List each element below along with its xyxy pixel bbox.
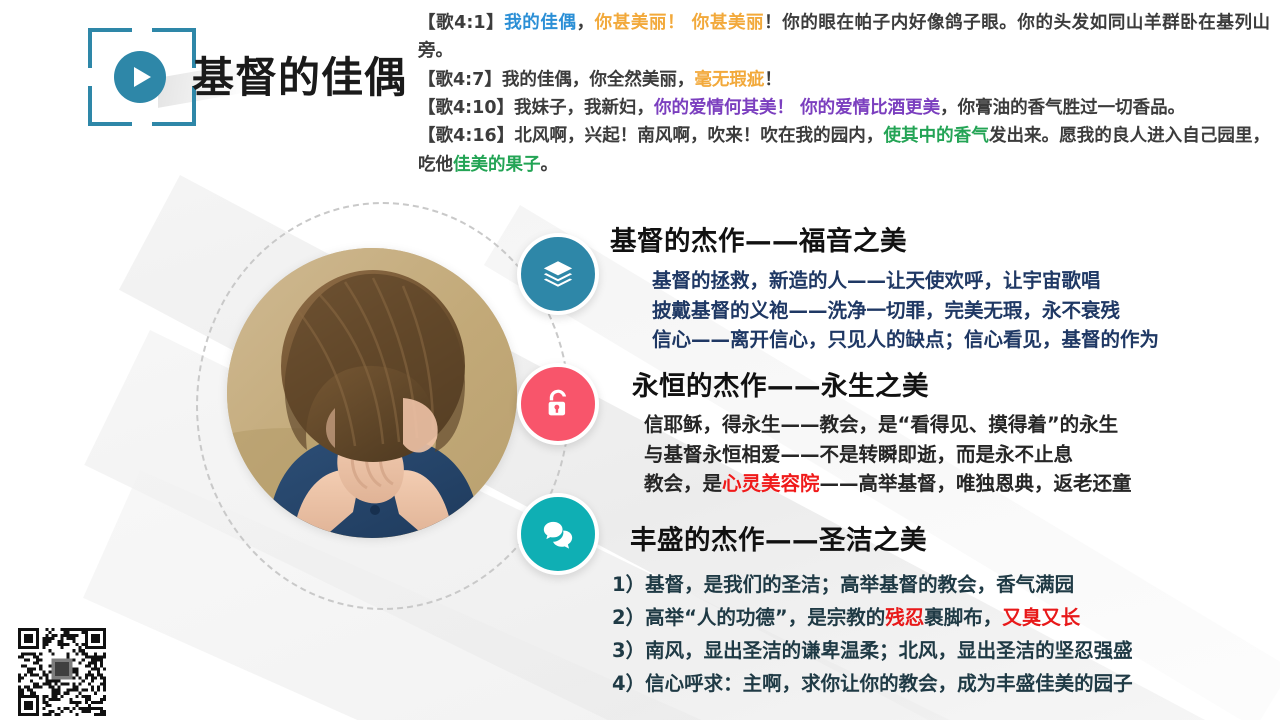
scripture-line: 【歌4:10】我妹子，我新妇，你的爱情何其美！ 你的爱情比酒更美，你膏油的香气胜… (418, 94, 1270, 122)
text-run: 4）信心呼求：主啊，求你让你的教会，成为丰盛佳美的园子 (612, 672, 1133, 695)
scripture-line: 【歌4:1】我的佳偶，你甚美丽！ 你甚美丽！你的眼在帕子内好像鸽子眼。你的头发如… (418, 9, 1270, 66)
scripture-run: 你的爱情比酒更美 (800, 98, 940, 118)
logo-mark (88, 28, 196, 126)
scripture-run: ， (577, 13, 595, 33)
text-run: 信心——离开信心，只见人的缺点；信心看见，基督的作为 (652, 328, 1159, 351)
section-items: 1）基督，是我们的圣洁；高举基督的教会，香气满园2）高举“人的功德”，是宗教的残… (612, 568, 1133, 701)
scripture-run: 我的佳偶 (504, 13, 576, 33)
chat-icon-glyph (541, 517, 575, 551)
section-eternal-beauty: 永恒的杰作——永生之美 信耶稣，得永生——教会，是“看得见、摸得着”的永生与基督… (632, 364, 1132, 499)
scripture-run: 北风啊，兴起！南风啊，吹来！吹在我的园内， (514, 126, 883, 146)
text-run: 又臭又长 (1002, 606, 1080, 629)
page-title: 基督的佳偶 (192, 44, 407, 105)
section-items: 信耶稣，得永生——教会，是“看得见、摸得着”的永生与基督永恒相爱——不是转瞬即逝… (644, 410, 1132, 499)
section-items: 基督的拯救，新造的人——让天使欢呼，让宇宙歌唱披戴基督的义袍——洗净一切罪，完美… (652, 266, 1159, 355)
list-item: 信耶稣，得永生——教会，是“看得见、摸得着”的永生 (644, 410, 1132, 440)
list-item: 2）高举“人的功德”，是宗教的残忍裹脚布，又臭又长 (612, 601, 1133, 634)
text-run: 信耶稣，得永生——教会，是“看得见、摸得着”的永生 (644, 413, 1118, 436)
scripture-run (685, 13, 692, 33)
unlock-icon[interactable] (517, 363, 599, 445)
scripture-line: 【歌4:16】北风啊，兴起！南风啊，吹来！吹在我的园内，使其中的香气发出来。愿我… (418, 122, 1270, 179)
scripture-run: 使其中的香气 (883, 126, 988, 146)
text-run: 2）高举“人的功德”，是宗教的 (612, 606, 885, 629)
list-item: 信心——离开信心，只见人的缺点；信心看见，基督的作为 (652, 325, 1159, 355)
scripture-reference: 【歌4:16】 (418, 126, 514, 146)
chat-icon[interactable] (517, 493, 599, 575)
layers-icon[interactable] (517, 233, 599, 315)
list-item: 与基督永恒相爱——不是转瞬即逝，而是永不止息 (644, 440, 1132, 470)
scripture-reference: 【歌4:7】 (418, 70, 502, 90)
scripture-block: 【歌4:1】我的佳偶，你甚美丽！ 你甚美丽！你的眼在帕子内好像鸽子眼。你的头发如… (418, 9, 1270, 179)
qr-code-glyph (14, 628, 110, 716)
qr-code[interactable] (14, 628, 110, 716)
section-gospel-beauty: 基督的杰作——福音之美 基督的拯救，新造的人——让天使欢呼，让宇宙歌唱披戴基督的… (610, 219, 1159, 355)
section-heading: 丰盛的杰作——圣洁之美 (630, 518, 1133, 557)
text-run: 裹脚布， (924, 606, 1002, 629)
scripture-run: 我的佳偶，你全然美丽， (502, 70, 695, 90)
text-run: 心灵美容院 (722, 472, 820, 495)
praying-child-photo (227, 248, 517, 538)
text-run: 1）基督，是我们的圣洁；高举基督的教会，香气满园 (612, 573, 1074, 596)
text-run: 残忍 (885, 606, 924, 629)
list-item: 4）信心呼求：主啊，求你让你的教会，成为丰盛佳美的园子 (612, 667, 1133, 700)
scripture-run: 我妹子，我新妇， (514, 98, 654, 118)
list-item: 1）基督，是我们的圣洁；高举基督的教会，香气满园 (612, 568, 1133, 601)
list-item: 披戴基督的义袍——洗净一切罪，完美无瑕，永不衰残 (652, 296, 1159, 326)
text-run: 与基督永恒相爱——不是转瞬即逝，而是永不止息 (644, 443, 1073, 466)
scripture-reference: 【歌4:1】 (418, 13, 504, 33)
section-holiness-beauty: 丰盛的杰作——圣洁之美 1）基督，是我们的圣洁；高举基督的教会，香气满园2）高举… (630, 518, 1133, 701)
scripture-run: ，你膏油的香气胜过一切香品。 (940, 98, 1185, 118)
layers-icon-glyph (541, 257, 575, 291)
scripture-run: 。 (541, 155, 559, 175)
text-run: 基督的拯救，新造的人——让天使欢呼，让宇宙歌唱 (652, 269, 1101, 292)
scripture-run: ！ (764, 70, 782, 90)
section-heading: 永恒的杰作——永生之美 (632, 364, 1132, 403)
text-run: 3）南风，显出圣洁的谦卑温柔；北风，显出圣洁的坚忍强盛 (612, 639, 1133, 662)
text-run: 教会，是 (644, 472, 722, 495)
scripture-run: 毫无瑕疵 (694, 70, 764, 90)
text-run: ——高举基督，唯独恩典，返老还童 (820, 472, 1132, 495)
play-icon[interactable] (114, 51, 166, 103)
scripture-run: 佳美的果子 (453, 155, 541, 175)
text-run: 披戴基督的义袍——洗净一切罪，完美无瑕，永不衰残 (652, 299, 1120, 322)
slide-root: 基督的佳偶 【歌4:1】我的佳偶，你甚美丽！ 你甚美丽！你的眼在帕子内好像鸽子眼… (0, 0, 1280, 720)
scripture-run: 你的爱情何其美！ (654, 98, 794, 118)
scripture-run: 你甚美丽 (692, 13, 764, 33)
section-heading: 基督的杰作——福音之美 (610, 219, 1159, 258)
list-item: 基督的拯救，新造的人——让天使欢呼，让宇宙歌唱 (652, 266, 1159, 296)
scripture-run: 你甚美丽！ (595, 13, 685, 33)
scripture-reference: 【歌4:10】 (418, 98, 514, 118)
list-item: 教会，是心灵美容院——高举基督，唯独恩典，返老还童 (644, 469, 1132, 499)
unlock-icon-glyph (541, 387, 575, 421)
scripture-line: 【歌4:7】我的佳偶，你全然美丽，毫无瑕疵！ (418, 66, 1270, 94)
list-item: 3）南风，显出圣洁的谦卑温柔；北风，显出圣洁的坚忍强盛 (612, 634, 1133, 667)
